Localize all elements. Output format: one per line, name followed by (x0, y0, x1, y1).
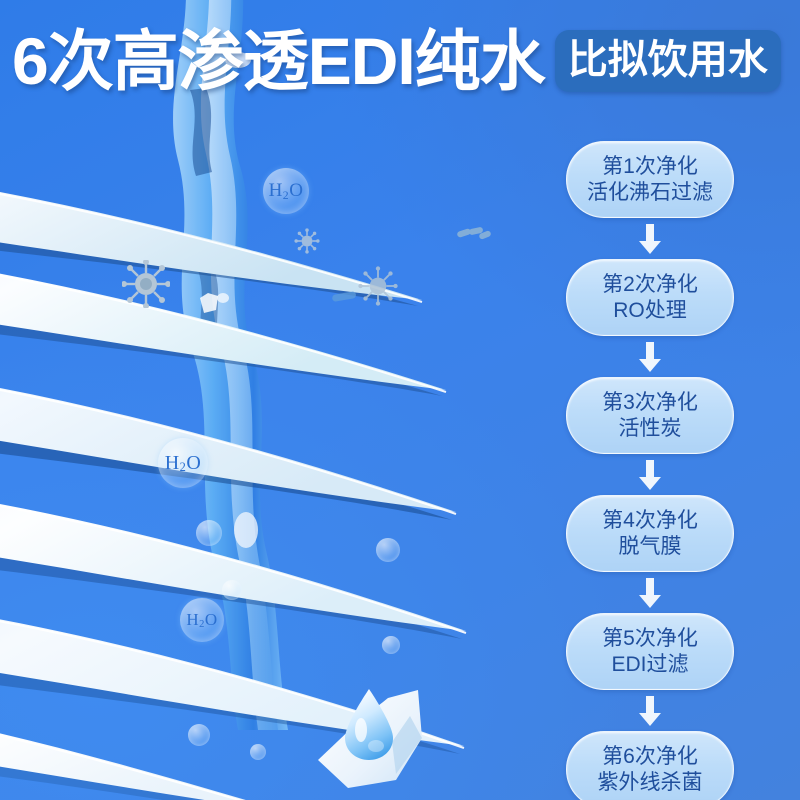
flow-step-5-line2: EDI过滤 (611, 652, 688, 678)
flow-step-4-line1: 第4次净化 (602, 508, 698, 534)
h2o-bubble: H2O (263, 168, 309, 214)
header-band: 6次高渗透EDI纯水 比拟饮用水 (0, 0, 800, 122)
membrane-layer-2 (0, 228, 450, 408)
flow-arrow-down-icon (637, 342, 663, 372)
title-badge: 比拟饮用水 (555, 30, 781, 92)
glass-bubble (376, 538, 400, 562)
virus-particle-icon (122, 260, 170, 308)
flow-step-3-line1: 第3次净化 (602, 390, 698, 416)
flow-step-1[interactable]: 第1次净化 活化沸石过滤 (566, 141, 734, 218)
flow-arrow-down-icon (637, 696, 663, 726)
virus-particle-icon (294, 228, 320, 254)
glass-bubble (188, 724, 210, 746)
flow-step-1-line2: 活化沸石过滤 (587, 180, 713, 206)
flow-step-3-line2: 活性炭 (619, 416, 682, 442)
h2o-bubble-label: H2O (186, 610, 217, 630)
glass-bubble (196, 520, 222, 546)
flow-step-1-line1: 第1次净化 (602, 154, 698, 180)
flow-arrow-down-icon (637, 224, 663, 254)
poster-root: H2O H2O H2O (0, 0, 800, 800)
membrane-fold (300, 660, 490, 800)
flow-step-2-line2: RO处理 (613, 298, 687, 324)
flow-step-5-line1: 第5次净化 (602, 626, 698, 652)
h2o-bubble-label: H2O (165, 452, 202, 475)
virus-particle-icon (358, 266, 398, 306)
page-title: 6次高渗透EDI纯水 (12, 28, 545, 94)
h2o-bubble-label: H2O (269, 180, 304, 202)
glass-bubble (250, 744, 266, 760)
flow-step-2-line1: 第2次净化 (602, 272, 698, 298)
glass-bubble (222, 580, 242, 600)
water-droplet-icon (340, 686, 398, 762)
bacteria-icon (455, 222, 495, 244)
flow-step-2[interactable]: 第2次净化 RO处理 (566, 259, 734, 336)
flow-step-4-line2: 脱气膜 (619, 534, 682, 560)
membrane-layer-5 (0, 568, 470, 758)
bacteria-icon (330, 288, 358, 304)
flow-step-5[interactable]: 第5次净化 EDI过滤 (566, 613, 734, 690)
purification-flowchart: 第1次净化 活化沸石过滤 第2次净化 RO处理 第3次净化 活性炭 第4次净化 … (566, 141, 734, 800)
membrane-layer-3 (0, 340, 460, 530)
h2o-bubble: H2O (158, 438, 208, 488)
membrane-layer-6 (0, 672, 290, 800)
flow-step-6[interactable]: 第6次净化 紫外线杀菌 (566, 731, 734, 800)
glass-bubble (382, 636, 400, 654)
flow-arrow-down-icon (637, 460, 663, 490)
crystal-icon (196, 290, 230, 316)
flow-arrow-down-icon (637, 578, 663, 608)
flow-step-6-line1: 第6次净化 (602, 744, 698, 770)
flow-step-4[interactable]: 第4次净化 脱气膜 (566, 495, 734, 572)
h2o-bubble: H2O (180, 598, 224, 642)
flow-step-6-line2: 紫外线杀菌 (598, 770, 703, 796)
flow-step-3[interactable]: 第3次净化 活性炭 (566, 377, 734, 454)
membrane-layer-1 (0, 150, 430, 320)
membrane-layer-4 (0, 455, 470, 645)
